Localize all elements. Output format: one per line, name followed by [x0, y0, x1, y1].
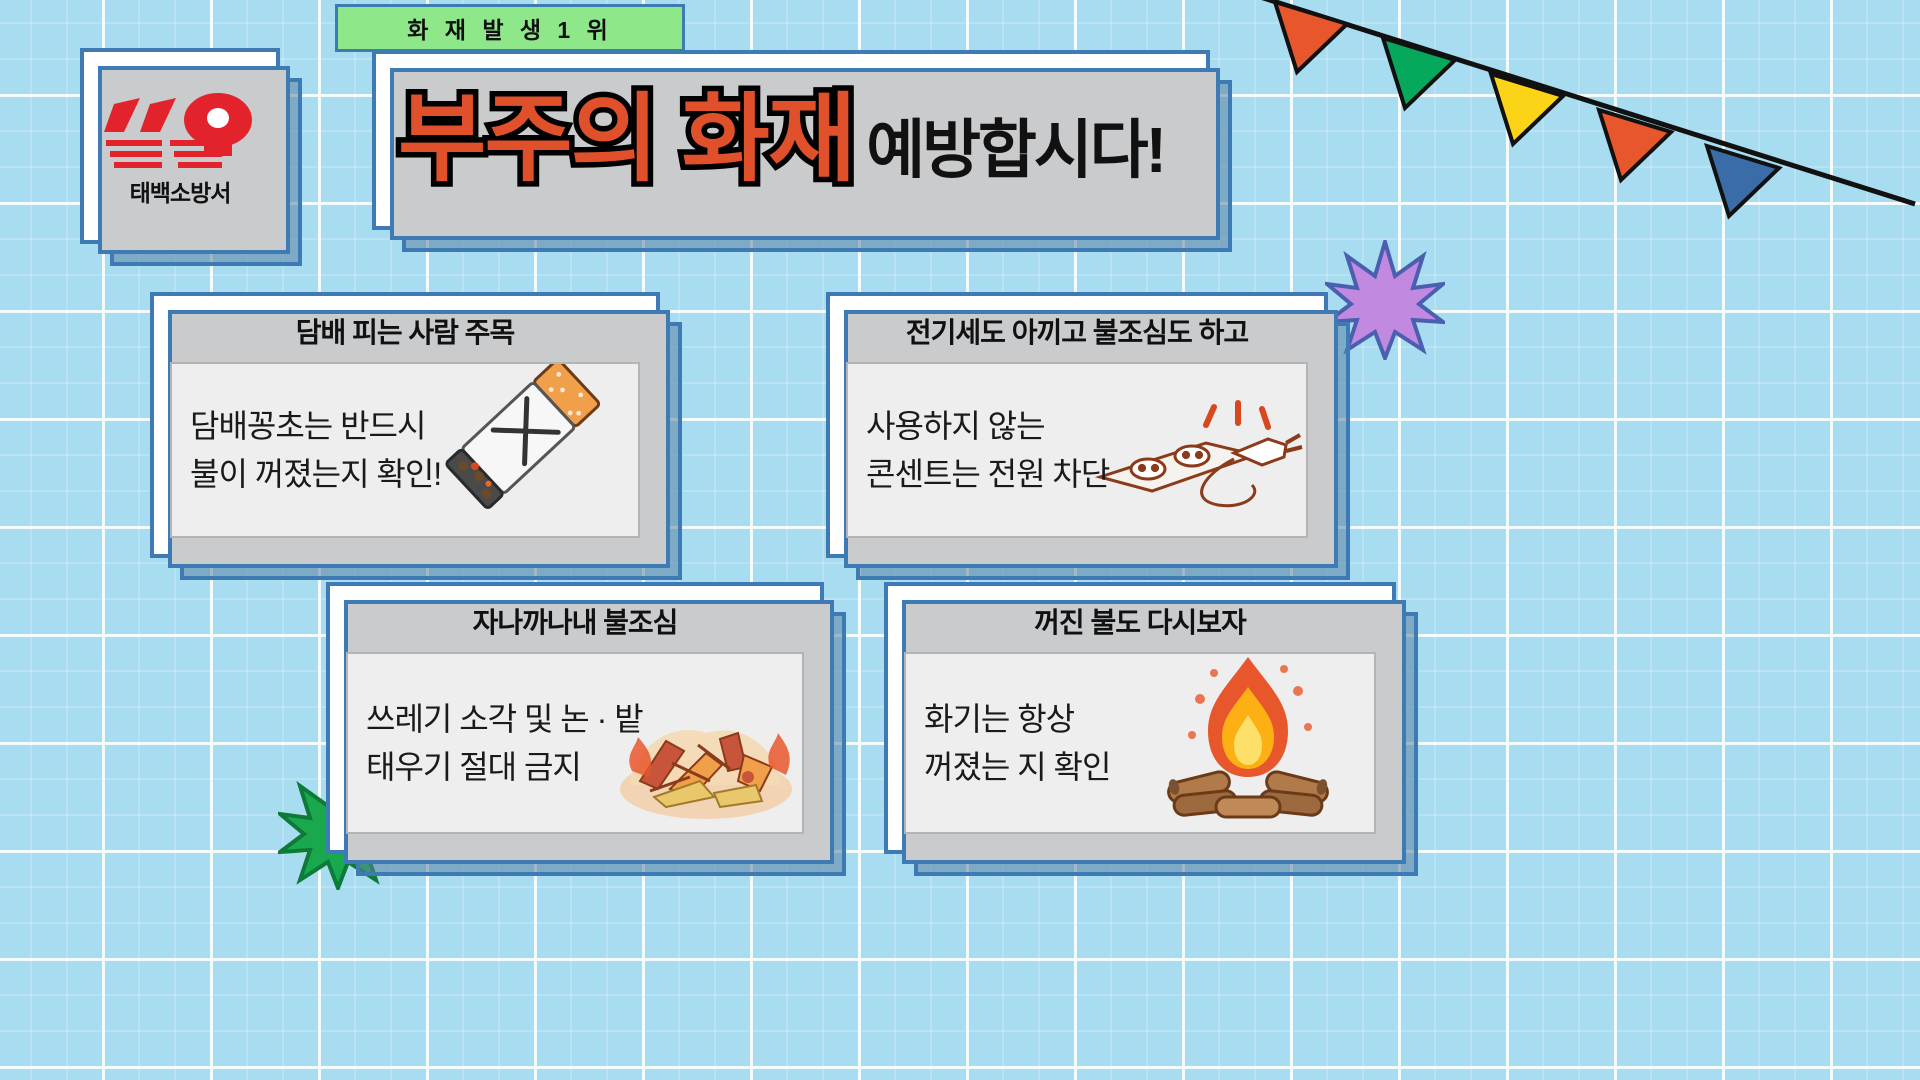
119-logo-icon	[100, 88, 260, 180]
tip-text-campfire: 화기는 항상 꺼졌는 지 확인	[924, 695, 1110, 791]
poster-title-row: 부주의 화재 예방합시다!	[398, 92, 1164, 188]
tip-text-outlet: 사용하지 않는 콘센트는 전원 차단	[866, 402, 1109, 498]
tip-body-campfire: 화기는 항상 꺼졌는 지 확인	[904, 652, 1376, 834]
tip-body-open-burning: 쓰레기 소각 및 논 · 밭 태우기 절대 금지	[346, 652, 804, 834]
tip-heading-open-burning: 자나까나내 불조심	[346, 598, 804, 652]
fire-department-name: 태백소방서	[130, 182, 231, 205]
tip-text-open-burning: 쓰레기 소각 및 논 · 밭 태우기 절대 금지	[366, 695, 643, 791]
poster-title-card: 부주의 화재 예방합시다!	[372, 50, 1210, 230]
rank-banner: 화 재 발 생 1 위	[335, 4, 685, 52]
tip-card-campfire: 꺼진 불도 다시보자 화기는 항상 꺼졌는 지 확인	[884, 582, 1396, 854]
rank-banner-label: 화 재 발 생 1 위	[407, 11, 613, 45]
tip-heading-outlet: 전기세도 아끼고 불조심도 하고	[846, 308, 1308, 362]
poster-title-highlight: 부주의 화재	[398, 92, 854, 188]
tip-card-outlet: 전기세도 아끼고 불조심도 하고 사용하지 않는 콘센트는 전원 차단	[826, 292, 1328, 558]
tip-body-smoking: 담배꽁초는 반드시 불이 꺼졌는지 확인!	[170, 362, 640, 538]
tip-heading-campfire: 꺼진 불도 다시보자	[904, 598, 1376, 652]
poster-title-rest: 예방합시다!	[866, 118, 1164, 182]
tip-heading-smoking: 담배 피는 사람 주목	[170, 308, 640, 362]
fire-department-logo-card: 태백소방서	[80, 48, 280, 244]
campfire-illustration	[1158, 652, 1338, 826]
bunting-decoration	[1255, 0, 1920, 229]
tip-text-smoking: 담배꽁초는 반드시 불이 꺼졌는지 확인!	[190, 402, 441, 498]
tip-card-open-burning: 자나까나내 불조심 쓰레기 소각 및 논 · 밭 태우기 절대 금지	[326, 582, 824, 854]
tip-card-smoking: 담배 피는 사람 주목 담배꽁초는 반드시 불이 꺼졌는지 확인!	[150, 292, 660, 558]
tip-body-outlet: 사용하지 않는 콘센트는 전원 차단	[846, 362, 1308, 538]
cigarette-illustration	[412, 362, 632, 536]
